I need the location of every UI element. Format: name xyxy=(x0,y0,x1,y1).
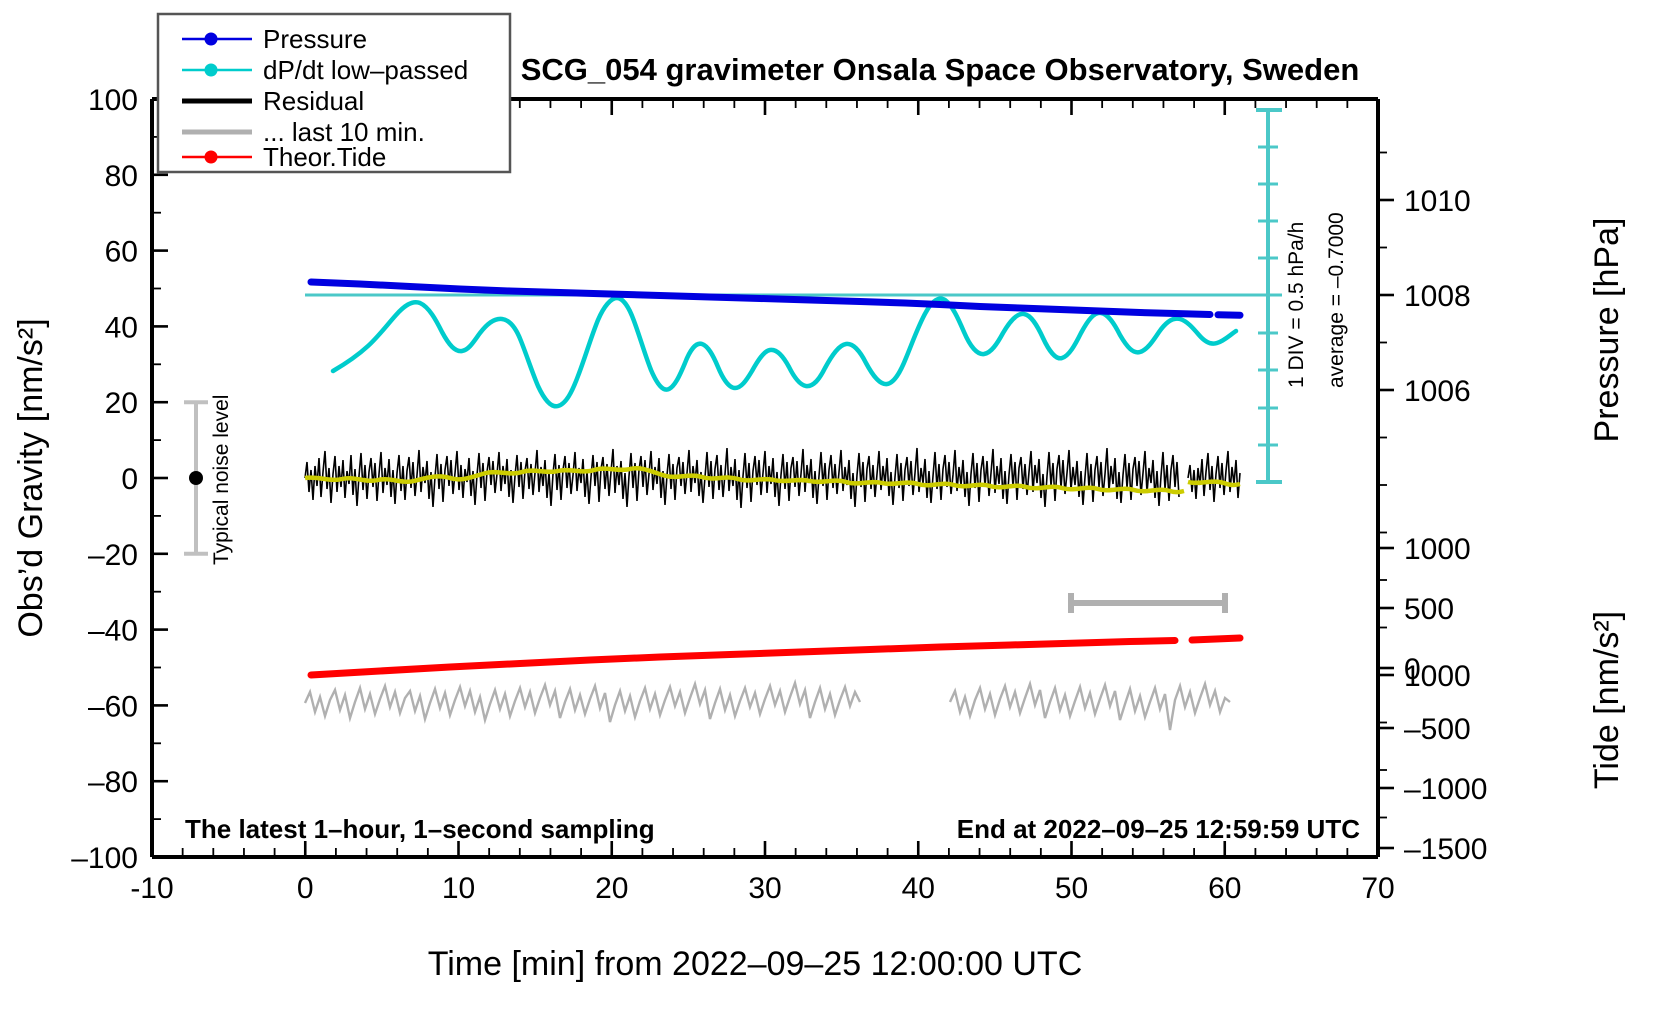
pressure-tick-label: 1006 xyxy=(1404,375,1471,408)
y-tick-label: 40 xyxy=(105,311,138,344)
y-tick-label: 60 xyxy=(105,236,138,269)
typical-noise-level-label: Typical noise level xyxy=(210,395,233,565)
theoretical-tide-curve-tail xyxy=(1192,638,1240,640)
legend: Pressure dP/dt low–passed Residual ... l… xyxy=(158,14,510,172)
y-axis-title: Obs’d Gravity [nm/s²] xyxy=(12,318,50,637)
y-tick-label: 100 xyxy=(88,84,138,117)
dpdt-average-label: average = –0.7000 xyxy=(1325,212,1348,388)
y-tick-label: –60 xyxy=(88,690,138,723)
page-title: SCG_054 gravimeter Onsala Space Observat… xyxy=(521,52,1360,87)
tide-tick-label: –1000 xyxy=(1404,773,1487,806)
y-tick-label: –20 xyxy=(88,539,138,572)
x-tick-label: 20 xyxy=(595,872,628,905)
legend-label: Theor.Tide xyxy=(263,142,386,172)
legend-label: dP/dt low–passed xyxy=(263,55,468,85)
legend-swatch-marker xyxy=(205,33,218,46)
bottom-left-note: The latest 1–hour, 1–second sampling xyxy=(185,814,655,844)
x-tick-label: 60 xyxy=(1208,872,1241,905)
tide-axis-title: Tide [nm/s²] xyxy=(1588,611,1626,789)
pressure-tick-label: 1008 xyxy=(1404,280,1471,313)
x-tick-label: 10 xyxy=(442,872,475,905)
y-tick-label: –80 xyxy=(88,766,138,799)
dpdt-div-label: 1 DIV = 0.5 hPa/h xyxy=(1285,222,1308,388)
gravimeter-chart: -10 0 10 20 30 40 50 60 70 xyxy=(0,0,1660,1020)
tide-tick-label: –500 xyxy=(1404,713,1471,746)
chart-page: -10 0 10 20 30 40 50 60 70 xyxy=(0,0,1660,1020)
x-tick-label: 0 xyxy=(297,872,314,905)
bottom-right-note: End at 2022–09–25 12:59:59 UTC xyxy=(957,814,1360,844)
legend-swatch-marker xyxy=(205,151,218,164)
x-tick-label: 30 xyxy=(748,872,781,905)
x-axis-title: Time [min] from 2022–09–25 12:00:00 UTC xyxy=(428,945,1083,983)
y-tick-label: 20 xyxy=(105,387,138,420)
tide-tick-label: 1000 xyxy=(1404,533,1471,566)
pressure-tick-label: 1010 xyxy=(1404,185,1471,218)
y-tick-label: 80 xyxy=(105,160,138,193)
legend-label: Residual xyxy=(263,86,364,116)
x-tick-label: 70 xyxy=(1361,872,1394,905)
x-tick-label: 40 xyxy=(902,872,935,905)
legend-label: Pressure xyxy=(263,24,367,54)
y-tick-label: –100 xyxy=(71,842,138,875)
x-tick-label: 50 xyxy=(1055,872,1088,905)
pressure-axis-title: Pressure [hPa] xyxy=(1588,218,1626,443)
tide-tick-label: –1500 xyxy=(1404,833,1487,866)
y-tick-label: –40 xyxy=(88,615,138,648)
tide-tick-label: 0 xyxy=(1404,653,1421,686)
legend-swatch-marker xyxy=(205,64,218,77)
y-tick-label: 0 xyxy=(121,463,138,496)
x-tick-label: -10 xyxy=(130,872,173,905)
tide-tick-label: 500 xyxy=(1404,593,1454,626)
